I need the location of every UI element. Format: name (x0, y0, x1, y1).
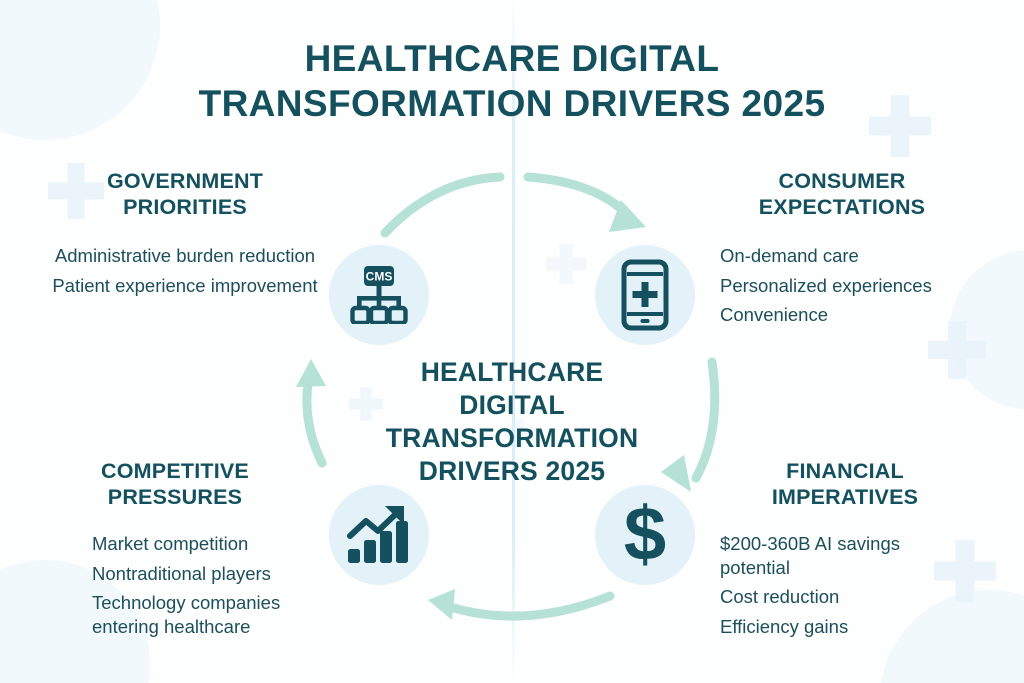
quadrant-consumer-expectations: CONSUMER EXPECTATIONS On-demand care Per… (672, 168, 1012, 333)
list-item: Market competition (92, 532, 340, 556)
quadrant-title-consumer-expectations: CONSUMER EXPECTATIONS (672, 168, 1012, 220)
list-item: Nontraditional players (92, 562, 340, 586)
icon-badge-competitive-pressures (329, 485, 429, 585)
cms-org-chart-icon: CMS (348, 266, 410, 324)
quadrant-title-government-priorities: GOVERNMENT PRIORITIES (20, 168, 350, 220)
quadrant-title-financial-imperatives: FINANCIAL IMPERATIVES (680, 458, 1010, 510)
center-label-line-1: HEALTHCARE (362, 356, 662, 389)
center-label: HEALTHCARE DIGITAL TRANSFORMATION DRIVER… (362, 356, 662, 488)
arrow-top-right-segment (528, 177, 629, 216)
cms-icon-label: CMS (366, 270, 393, 284)
quadrant-title-line-1: FINANCIAL (680, 458, 1010, 484)
list-item: Administrative burden reduction (20, 244, 350, 268)
quadrant-title-line-1: COMPETITIVE (10, 458, 340, 484)
quadrant-title-line-2: PRIORITIES (20, 194, 350, 220)
quadrant-list-competitive-pressures: Market competition Nontraditional player… (10, 532, 340, 638)
quadrant-title-line-2: EXPECTATIONS (672, 194, 1012, 220)
list-item: Efficiency gains (720, 615, 1010, 639)
quadrant-title-line-1: GOVERNMENT (20, 168, 350, 194)
list-item: Patient experience improvement (20, 274, 350, 298)
arrow-bottom-segment (444, 596, 610, 616)
infographic-canvas: HEALTHCARE DIGITAL TRANSFORMATION DRIVER… (0, 0, 1024, 683)
list-item: $200-360B AI savings potential (720, 532, 952, 579)
center-label-line-3: TRANSFORMATION (362, 422, 662, 455)
list-item: Convenience (720, 303, 1012, 327)
quadrant-title-line-2: PRESSURES (10, 484, 340, 510)
quadrant-government-priorities: GOVERNMENT PRIORITIES Administrative bur… (20, 168, 350, 303)
quadrant-title-line-2: IMPERATIVES (680, 484, 1010, 510)
list-item: Cost reduction (720, 585, 1010, 609)
quadrant-title-competitive-pressures: COMPETITIVE PRESSURES (10, 458, 340, 510)
center-label-line-2: DIGITAL (362, 389, 662, 422)
mobile-phone-medical-cross-icon (621, 259, 669, 331)
quadrant-title-line-1: CONSUMER (672, 168, 1012, 194)
list-item: Personalized experiences (720, 274, 1012, 298)
list-item: Technology companies entering healthcare (92, 591, 337, 638)
arrow-top-left-segment (385, 177, 500, 233)
center-label-line-4: DRIVERS 2025 (362, 455, 662, 488)
quadrant-competitive-pressures: COMPETITIVE PRESSURES Market competition… (10, 458, 340, 644)
arrow-left-head (296, 359, 326, 387)
quadrant-financial-imperatives: FINANCIAL IMPERATIVES $200-360B AI savin… (680, 458, 1010, 644)
dollar-sign-icon: $ (624, 497, 666, 573)
quadrant-list-government-priorities: Administrative burden reduction Patient … (20, 244, 350, 297)
quadrant-list-financial-imperatives: $200-360B AI savings potential Cost redu… (680, 532, 1010, 638)
arrow-bottom-head (428, 589, 455, 620)
list-item: On-demand care (720, 244, 1012, 268)
quadrant-list-consumer-expectations: On-demand care Personalized experiences … (672, 244, 1012, 327)
growth-bar-chart-arrow-icon (346, 505, 412, 565)
